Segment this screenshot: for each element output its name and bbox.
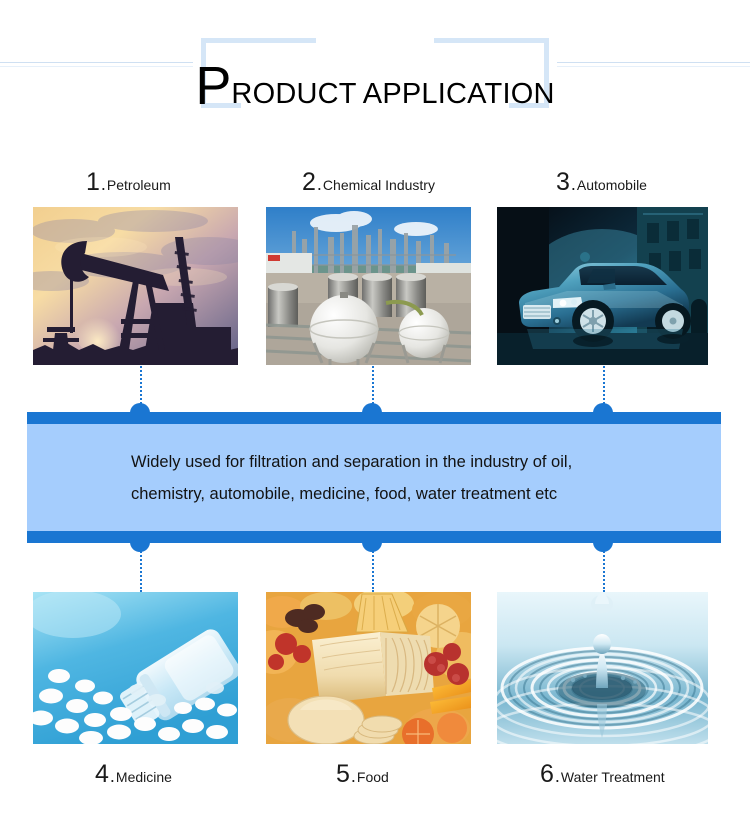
caption-label: Water Treatment	[561, 765, 665, 790]
page-title-rest: RODUCT APPLICATION	[231, 79, 554, 109]
caption-label: Food	[357, 765, 389, 790]
banner-connector-bump-top-1	[130, 403, 150, 413]
photo-chemical-industry	[266, 207, 471, 365]
caption-food: 5.Food	[336, 762, 389, 788]
connector-line-4	[140, 544, 142, 592]
caption-label: Medicine	[116, 765, 172, 790]
oil-pumpjack-photo	[33, 207, 238, 365]
caption-separator: .	[109, 764, 116, 789]
caption-label: Chemical Industry	[323, 173, 435, 198]
caption-number: 5	[336, 762, 350, 787]
caption-label: Automobile	[577, 173, 647, 198]
photo-water-treatment	[497, 592, 708, 744]
banner-text-line-2: chemistry, automobile, medicine, food, w…	[131, 478, 661, 510]
connector-line-5	[372, 544, 374, 592]
page-title: PRODUCT APPLICATION	[201, 38, 549, 108]
product-application-page: PRODUCT APPLICATION 1.Petroleum 2.Chemic…	[0, 0, 750, 819]
chemical-plant-photo	[266, 207, 471, 365]
caption-separator: .	[350, 764, 357, 789]
header-rule-left-inner	[0, 66, 193, 67]
photo-petroleum	[33, 207, 238, 365]
page-header: PRODUCT APPLICATION	[0, 0, 750, 130]
banner-connector-bump-top-3	[593, 403, 613, 413]
pills-photo	[33, 592, 238, 744]
photo-food	[266, 592, 471, 744]
caption-label: Petroleum	[107, 173, 171, 198]
water-drop-photo	[497, 592, 708, 744]
caption-automobile: 3.Automobile	[556, 170, 647, 196]
header-rule-right-outer	[557, 62, 750, 63]
header-rule-left-outer	[0, 62, 193, 63]
caption-number: 3	[556, 170, 570, 195]
caption-chemical-industry: 2.Chemical Industry	[302, 170, 435, 196]
description-banner: Widely used for filtration and separatio…	[27, 412, 721, 543]
caption-number: 6	[540, 762, 554, 787]
page-title-dropcap: P	[195, 60, 231, 112]
banner-text: Widely used for filtration and separatio…	[27, 424, 721, 531]
caption-separator: .	[554, 764, 561, 789]
header-rule-right-inner	[557, 66, 750, 67]
photo-medicine	[33, 592, 238, 744]
banner-top-bar	[27, 412, 721, 424]
caption-separator: .	[316, 172, 323, 197]
caption-medicine: 4.Medicine	[95, 762, 172, 788]
food-photo	[266, 592, 471, 744]
caption-water-treatment: 6.Water Treatment	[540, 762, 665, 788]
banner-connector-bump-top-2	[362, 403, 382, 413]
caption-petroleum: 1.Petroleum	[86, 170, 171, 196]
banner-text-line-1: Widely used for filtration and separatio…	[131, 446, 661, 478]
caption-number: 1	[86, 170, 100, 195]
caption-separator: .	[570, 172, 577, 197]
caption-number: 4	[95, 762, 109, 787]
caption-separator: .	[100, 172, 107, 197]
photo-automobile	[497, 207, 708, 365]
connector-line-6	[603, 544, 605, 592]
car-photo	[497, 207, 708, 365]
caption-number: 2	[302, 170, 316, 195]
